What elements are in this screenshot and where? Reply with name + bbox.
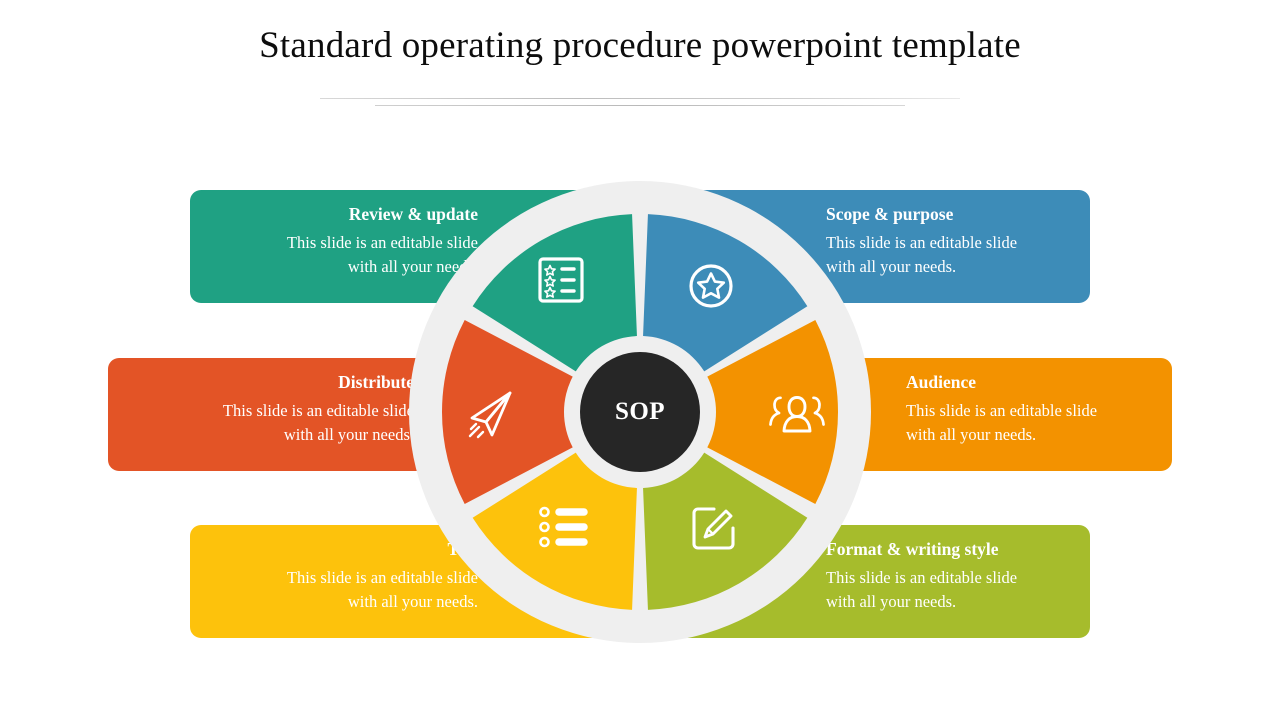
panel-title: Audience xyxy=(906,372,1172,394)
wheel-hub-circle[interactable] xyxy=(580,352,700,472)
title-divider-lower xyxy=(375,105,905,106)
panel-body: This slide is an editable slide with all… xyxy=(906,399,1172,447)
sop-wheel-diagram: SOP xyxy=(409,181,871,643)
page-title: Standard operating procedure powerpoint … xyxy=(0,24,1280,68)
title-block: Standard operating procedure powerpoint … xyxy=(0,24,1280,68)
panel-title: Distribute xyxy=(142,372,414,394)
panel-body: This slide is an editable slide with all… xyxy=(142,399,414,447)
title-divider-upper xyxy=(320,98,960,99)
